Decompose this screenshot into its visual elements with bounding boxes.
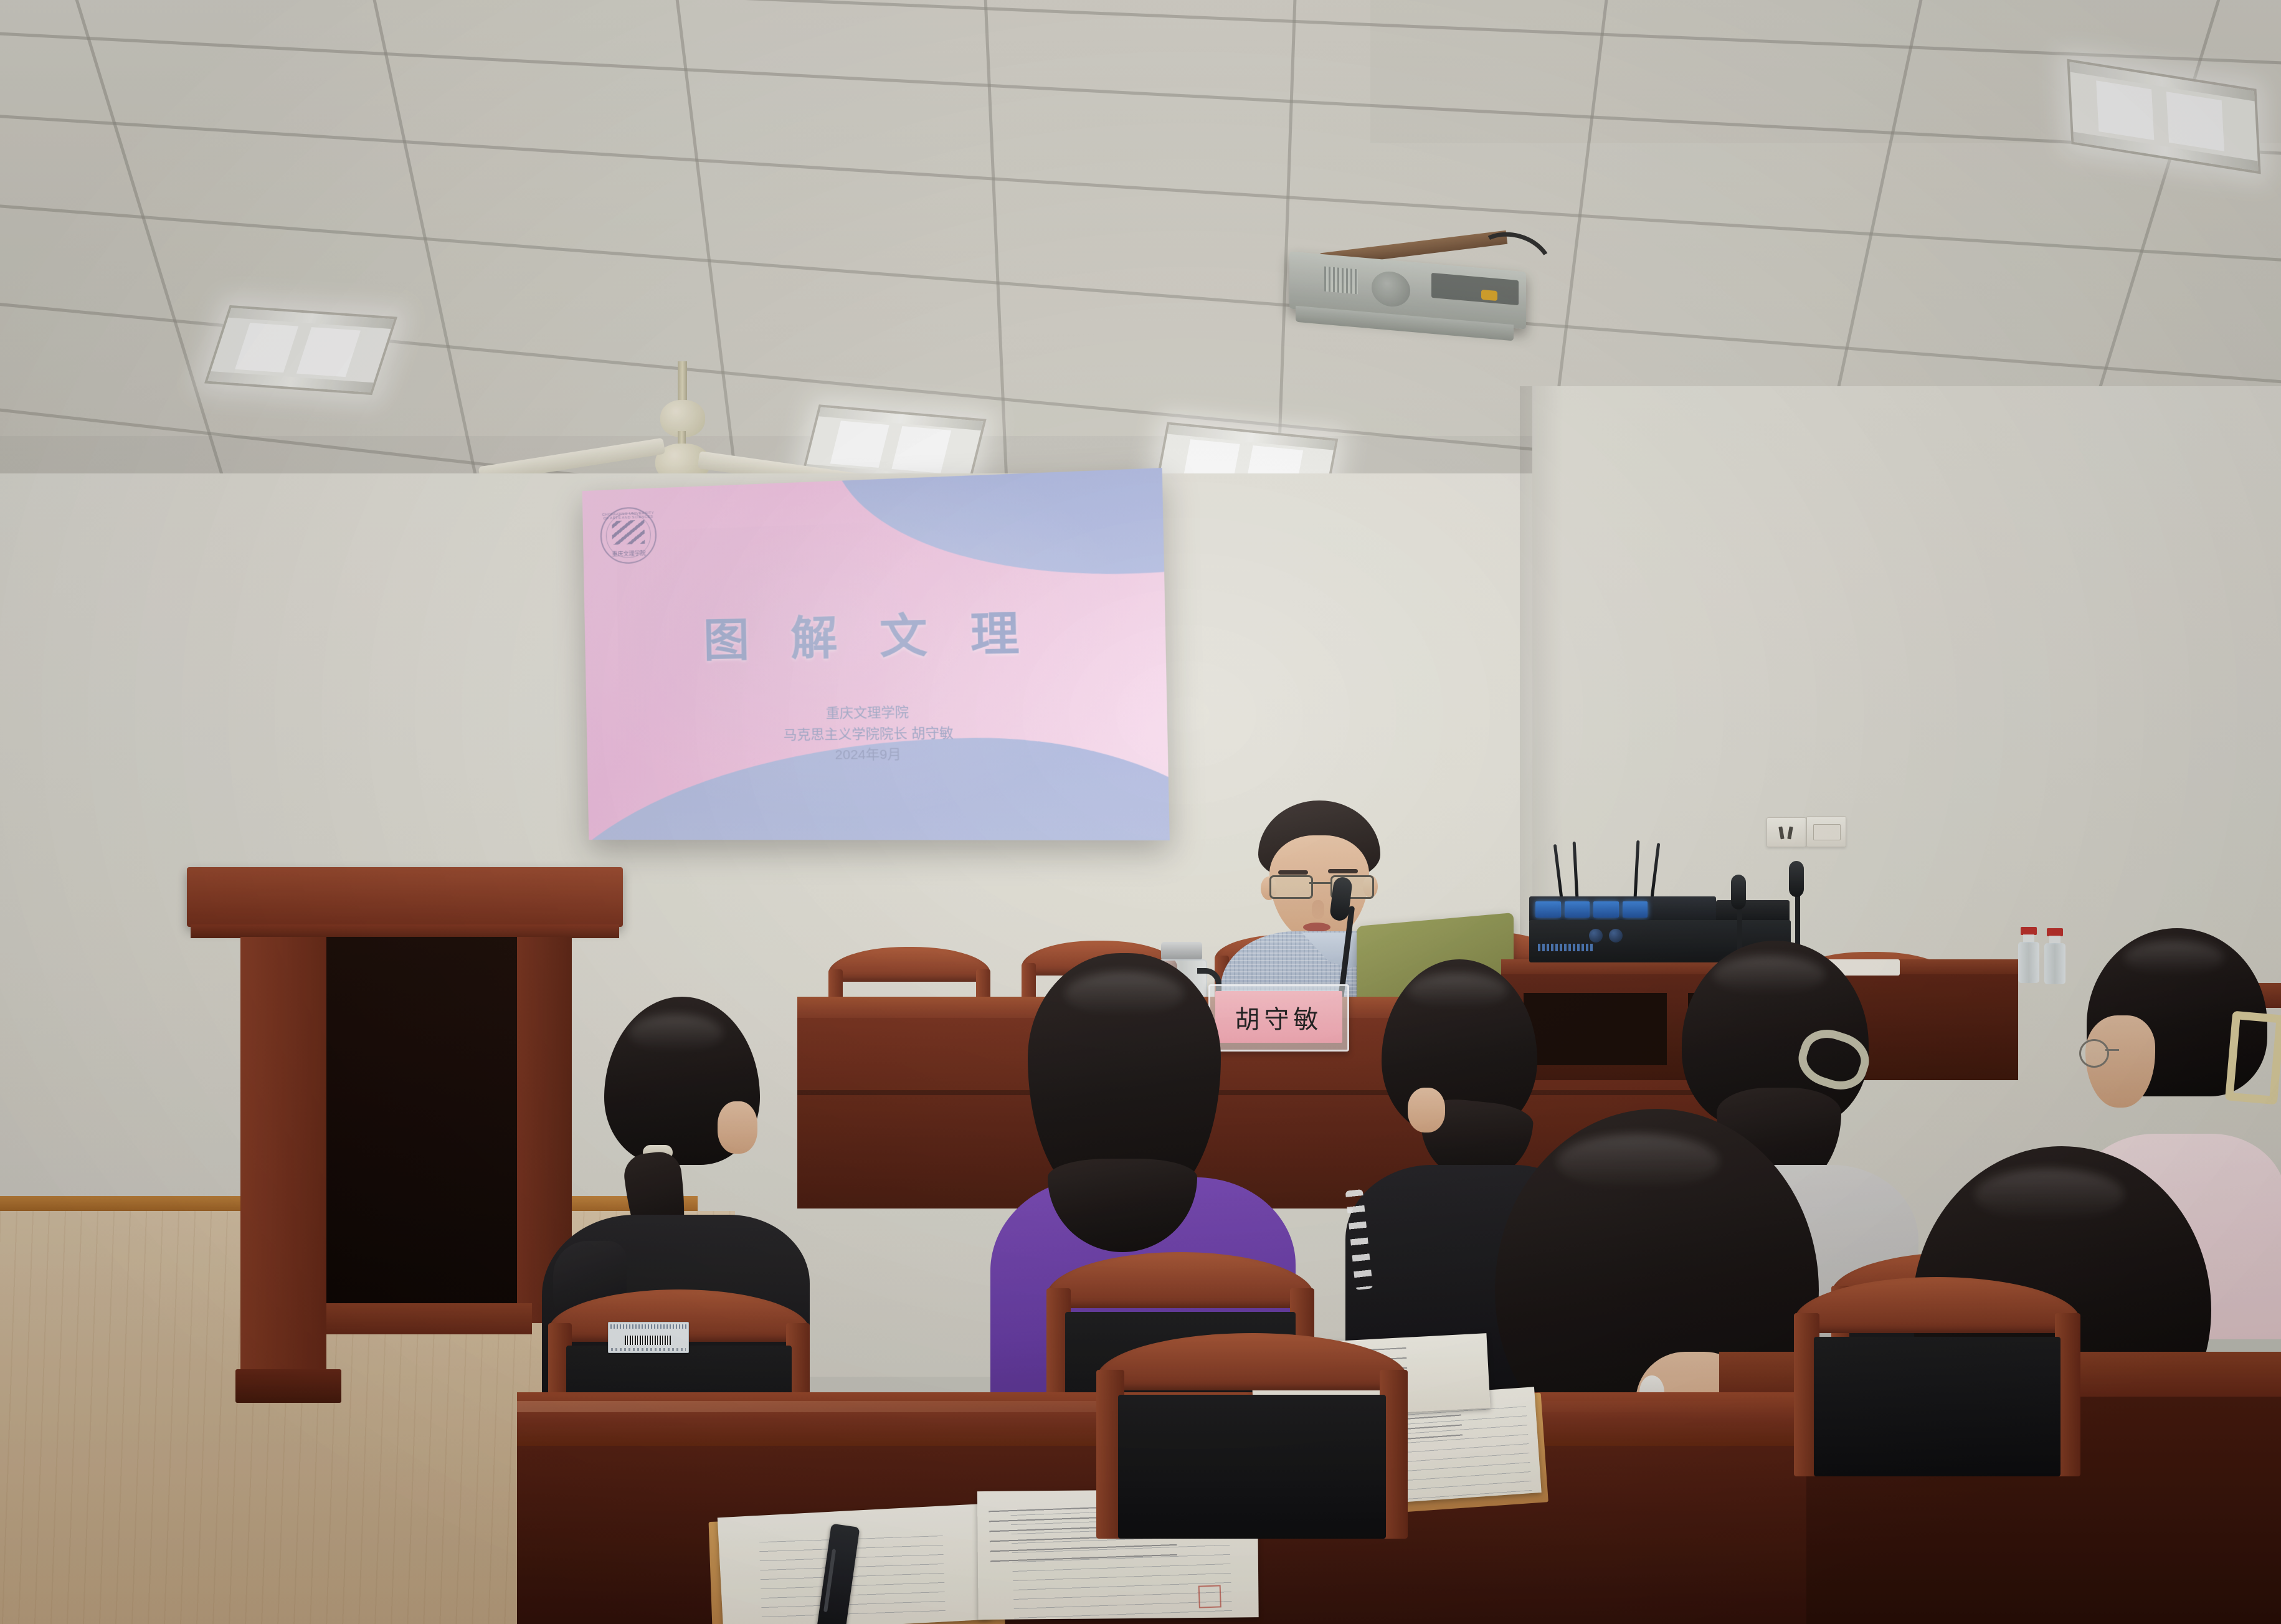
emblem-top-text: CHONGQING UNIVERSITY OF ARTS AND SCIENCE… — [601, 511, 655, 521]
mixer-knob-2[interactable] — [1609, 929, 1623, 943]
lectern-cavity — [326, 937, 517, 1323]
chair-foreground-center[interactable] — [1096, 1333, 1408, 1539]
water-bottle-2[interactable] — [2044, 928, 2067, 987]
emblem-bottom-text: 重庆文理学院 — [602, 548, 655, 558]
lecture-room-photo: CHONGQING UNIVERSITY OF ARTS AND SCIENCE… — [0, 0, 2281, 1624]
projector-vent — [1324, 267, 1358, 295]
chair-foreground-right[interactable] — [1794, 1277, 2080, 1476]
lectern-shelf — [326, 1303, 532, 1334]
slide-subtitle-block: 重庆文理学院 马克思主义学院院长 胡守敏 2024年9月 — [586, 699, 1168, 768]
notebook-red-stamp — [1198, 1585, 1221, 1608]
mixer-brand-label — [1538, 944, 1594, 951]
presenter-left-brow — [1278, 870, 1308, 875]
lectern-top — [187, 867, 623, 927]
emblem-wave-mark — [612, 520, 645, 545]
chair-asset-tag — [608, 1322, 689, 1353]
lectern-left-column — [240, 937, 326, 1373]
projection-screen: CHONGQING UNIVERSITY OF ARTS AND SCIENCE… — [582, 468, 1170, 840]
ceiling-projector — [1283, 242, 1557, 379]
lectern-base — [235, 1369, 341, 1403]
light-switch-plate[interactable] — [1806, 816, 1846, 847]
mixer-knob-1[interactable] — [1589, 929, 1603, 943]
power-outlet-plate[interactable] — [1766, 817, 1806, 847]
water-bottle-1[interactable] — [2018, 927, 2041, 985]
slide-surface: CHONGQING UNIVERSITY OF ARTS AND SCIENCE… — [582, 468, 1170, 840]
projector-indicator — [1481, 290, 1497, 301]
yellow-hair-clip — [2225, 1011, 2281, 1105]
receiver-led-displays — [1535, 901, 1648, 918]
university-emblem-icon: CHONGQING UNIVERSITY OF ARTS AND SCIENCE… — [600, 506, 657, 565]
lectern-bevel — [191, 924, 619, 938]
recessed-grid-light-1 — [204, 305, 397, 395]
attendee-glasses-icon — [2079, 1039, 2128, 1066]
